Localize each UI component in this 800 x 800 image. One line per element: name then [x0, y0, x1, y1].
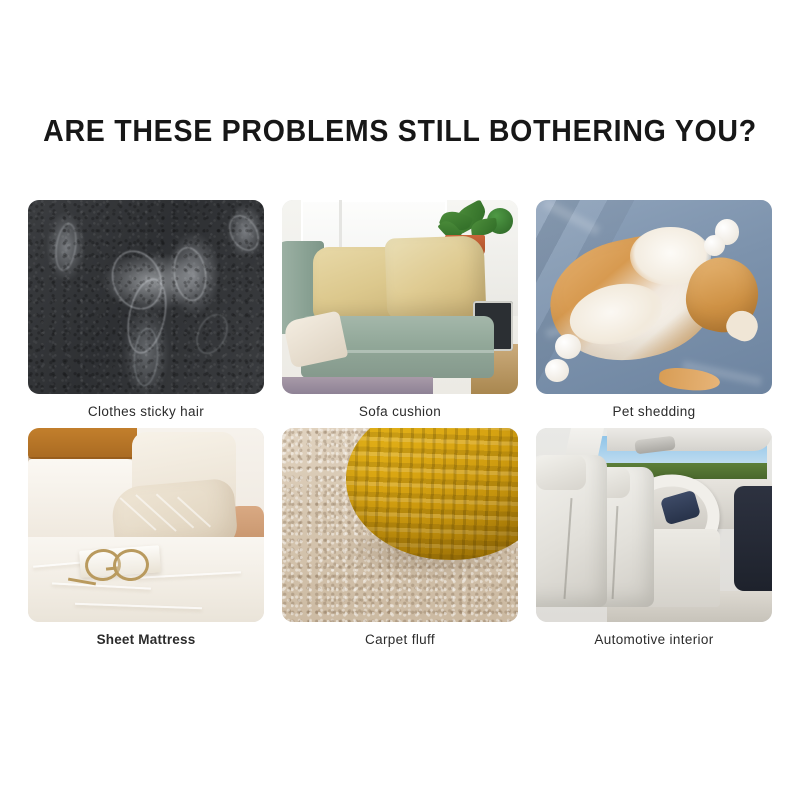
image-bed-with-pillows: [28, 428, 264, 622]
grid-item-pet-shedding[interactable]: Pet shedding: [536, 200, 772, 420]
caption-clothes-sticky-hair: Clothes sticky hair: [28, 404, 264, 420]
area-rug: [282, 377, 433, 394]
caption-sofa-cushion: Sofa cushion: [282, 404, 518, 420]
caption-carpet-fluff: Carpet fluff: [282, 632, 518, 648]
image-cat-on-blanket: [536, 200, 772, 394]
thumbnail-clothes-sticky-hair[interactable]: [28, 200, 264, 394]
image-sofa-with-cushions: [282, 200, 518, 394]
problem-grid: Clothes sticky hair: [28, 200, 772, 648]
image-knit-pouf-on-carpet: [282, 428, 518, 622]
car-door-panel: [734, 486, 772, 591]
image-dark-fabric-with-lint: [28, 200, 264, 394]
image-car-interior: [536, 428, 772, 622]
infographic-page: ARE THESE PROBLEMS STILL BOTHERING YOU? …: [0, 0, 800, 800]
blanket-fold: [542, 200, 601, 235]
cat-paw: [545, 359, 569, 382]
caption-pet-shedding: Pet shedding: [536, 404, 772, 420]
thumbnail-automotive-interior[interactable]: [536, 428, 772, 622]
page-title: ARE THESE PROBLEMS STILL BOTHERING YOU?: [32, 113, 768, 149]
grid-item-carpet-fluff[interactable]: Carpet fluff: [282, 428, 518, 648]
caption-automotive-interior: Automotive interior: [536, 632, 772, 648]
sofa-cushion: [384, 235, 486, 320]
thumbnail-sofa-cushion[interactable]: [282, 200, 518, 394]
cat-paw: [704, 235, 725, 256]
thumbnail-carpet-fluff[interactable]: [282, 428, 518, 622]
grid-item-sheet-mattress[interactable]: Sheet Mattress: [28, 428, 264, 648]
car-roof: [607, 428, 772, 451]
grid-item-clothes-sticky-hair[interactable]: Clothes sticky hair: [28, 200, 264, 420]
grid-item-sofa-cushion[interactable]: Sofa cushion: [282, 200, 518, 420]
grid-item-automotive-interior[interactable]: Automotive interior: [536, 428, 772, 648]
cat-paw: [555, 334, 581, 359]
headboard: [28, 428, 137, 459]
thumbnail-pet-shedding[interactable]: [536, 200, 772, 394]
headrest: [536, 455, 586, 490]
caption-sheet-mattress: Sheet Mattress: [28, 632, 264, 648]
thumbnail-sheet-mattress[interactable]: [28, 428, 264, 622]
